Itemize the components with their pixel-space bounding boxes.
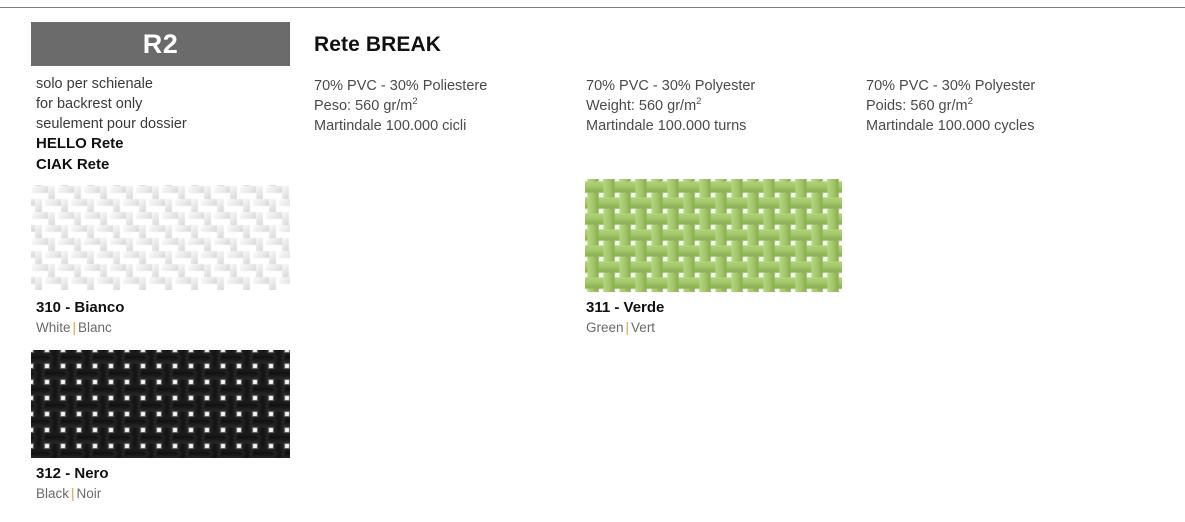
spec-composition-it: 70% PVC - 30% Poliestere [314,76,487,96]
usage-note-it: solo per schienale [36,74,306,94]
swatch-texture-312 [31,350,290,458]
swatch-name-fr-311: Vert [631,320,655,335]
swatch-texture-310 [31,185,290,290]
usage-note-fr: seulement pour dossier [36,114,306,134]
swatch-code-name-311: 311 - Verde [586,298,664,317]
spec-column-english: 70% PVC - 30% Polyester Weight: 560 gr/m… [586,76,755,137]
swatch-separator-311: | [624,320,632,335]
swatch-caption-312: 312 - Nero Black|Noir [36,464,109,503]
color-swatch-310-bianco[interactable] [31,185,290,290]
swatch-translations-311: Green|Vert [586,319,664,337]
spec-weight-en: Weight: 560 gr/m2 [586,96,755,116]
spec-column-french: 70% PVC - 30% Polyester Poids: 560 gr/m2… [866,76,1035,137]
swatch-separator-310: | [71,320,79,335]
swatch-name-en-311: Green [586,320,624,335]
swatch-texture-311 [585,179,842,292]
spec-abrasion-it: Martindale 100.000 cicli [314,116,487,136]
swatch-code-name-312: 312 - Nero [36,464,109,483]
spec-abrasion-fr: Martindale 100.000 cycles [866,116,1035,136]
swatch-code-name-310: 310 - Bianco [36,298,124,317]
swatch-separator-312: | [69,486,77,501]
swatch-name-fr-310: Blanc [78,320,112,335]
header-divider [0,7,1185,8]
swatch-name-en-310: White [36,320,71,335]
usage-note: solo per schienale for backrest only seu… [36,74,306,135]
color-swatch-312-nero[interactable] [31,350,290,458]
spec-abrasion-en: Martindale 100.000 turns [586,116,755,136]
swatch-caption-310: 310 - Bianco White|Blanc [36,298,124,337]
swatch-name-fr-312: Noir [77,486,102,501]
fabric-code-badge: R2 [31,22,290,66]
swatch-translations-312: Black|Noir [36,485,109,503]
usage-note-en: for backrest only [36,94,306,114]
spec-composition-en: 70% PVC - 30% Polyester [586,76,755,96]
spec-composition-fr: 70% PVC - 30% Polyester [866,76,1035,96]
spec-column-italian: 70% PVC - 30% Poliestere Peso: 560 gr/m2… [314,76,487,137]
fabric-family-title: Rete BREAK [314,33,441,57]
swatch-name-en-312: Black [36,486,69,501]
color-swatch-311-verde[interactable] [585,179,842,292]
model-item-ciak: CIAK Rete [36,155,306,176]
model-item-hello: HELLO Rete [36,134,306,155]
spec-weight-fr: Poids: 560 gr/m2 [866,96,1035,116]
compatible-models-list: HELLO Rete CIAK Rete [36,134,306,175]
swatch-caption-311: 311 - Verde Green|Vert [586,298,664,337]
spec-weight-it: Peso: 560 gr/m2 [314,96,487,116]
swatch-translations-310: White|Blanc [36,319,124,337]
